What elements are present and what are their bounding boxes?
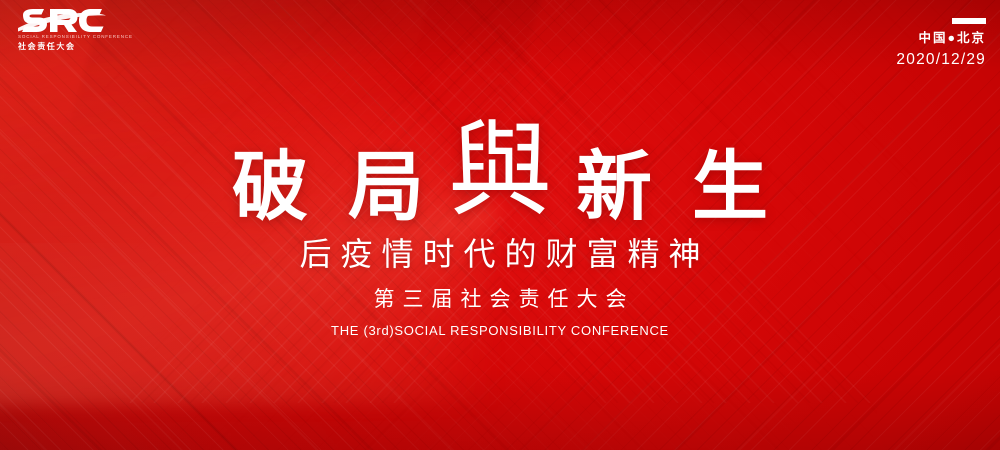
src-wordmark-icon	[18, 8, 106, 34]
headline: 破 局 與 新 生	[212, 128, 788, 224]
headline-char-5: 生	[692, 150, 768, 224]
src-logo[interactable]: SOCIAL RESPONSIBILITY CONFERENCE 社会责任大会	[18, 8, 106, 54]
event-name-chinese: 第三届社会责任大会	[366, 289, 635, 310]
event-name-english: THE (3rd)SOCIAL RESPONSIBILITY CONFERENC…	[331, 324, 669, 337]
conference-banner: SOCIAL RESPONSIBILITY CONFERENCE 社会责任大会 …	[0, 0, 1000, 450]
headline-char-1: 破	[232, 150, 308, 224]
subtitle: 后疫情时代的财富精神	[290, 238, 709, 270]
headline-char-4: 新	[576, 150, 652, 224]
event-date: 2020/12/29	[896, 52, 986, 68]
divider-bar	[952, 18, 986, 24]
src-logo-english: SOCIAL RESPONSIBILITY CONFERENCE	[18, 35, 146, 39]
src-logo-chinese: 社会责任大会	[18, 43, 106, 51]
headline-char-2: 局	[348, 150, 424, 224]
main-content: 破 局 與 新 生 后疫情时代的财富精神 第三届社会责任大会 THE (3rd)…	[0, 128, 1000, 337]
event-meta: 中国●北京 2020/12/29	[896, 18, 986, 67]
headline-char-3: 與	[448, 124, 552, 218]
event-location: 中国●北京	[896, 32, 986, 45]
